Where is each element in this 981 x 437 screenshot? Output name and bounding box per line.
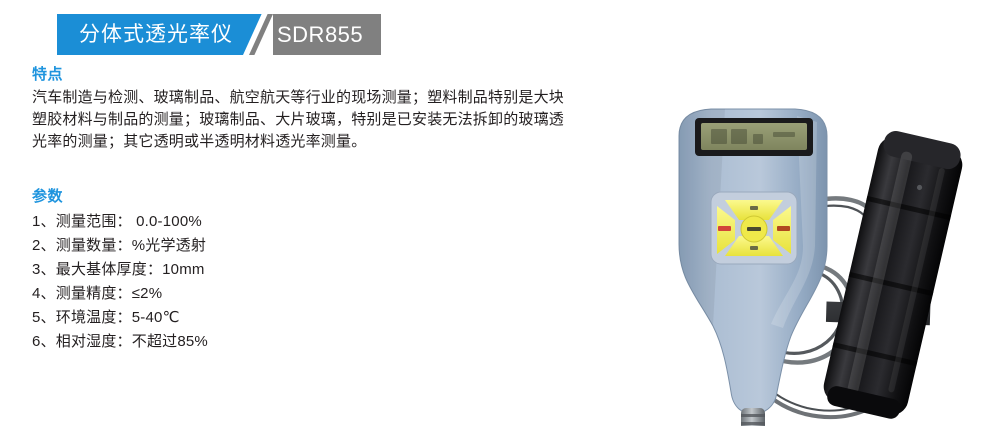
keypad-center-legend [747,227,761,231]
keypad-down-legend [750,246,758,250]
list-item: 6、相对湿度：不超过85% [32,330,452,354]
probe-assembly [804,124,971,423]
list-item: 3、最大基体厚度：10mm [32,258,452,282]
product-title-banner: 分体式透光率仪 SDR855 [57,14,381,55]
product-spec-page: 分体式透光率仪 SDR855 特点 汽车制造与检测、玻璃制品、航空航天等行业的现… [0,0,981,437]
keypad-up-legend [750,206,758,210]
meter-unit [679,109,827,426]
banner-gray-segment: SDR855 [273,14,381,55]
keypad-left-legend [718,226,731,231]
list-item: 1、测量范围： 0.0-100% [32,210,452,234]
list-item: 5、环境温度：5-40℃ [32,306,452,330]
banner-blue-segment: 分体式透光率仪 [57,14,243,55]
parameters-list: 1、测量范围： 0.0-100% 2、测量数量：%光学透射 3、最大基体厚度：1… [32,210,452,354]
parameters-heading: 参数 [32,186,452,208]
banner-slash-divider [243,14,273,55]
features-heading: 特点 [32,64,672,86]
connector-ring [741,422,765,425]
keypad-right-legend [777,226,790,231]
features-text-line: 光率的测量；其它透明或半透明材料透光率测量。 [32,131,672,153]
features-text-line: 汽车制造与检测、玻璃制品、航空航天等行业的现场测量；塑料制品特别是大块 [32,87,672,109]
parameters-section: 参数 1、测量范围： 0.0-100% 2、测量数量：%光学透射 3、最大基体厚… [32,186,452,354]
list-item: 4、测量精度：≤2% [32,282,452,306]
connector-ring [741,414,765,417]
features-text-line: 塑胶材料与制品的测量；玻璃制品、大片玻璃，特别是已安装无法拆卸的玻璃透 [32,109,672,131]
list-item: 2、测量数量：%光学透射 [32,234,452,258]
product-photo [655,96,981,426]
model-number-label: SDR855 [277,24,363,46]
features-section: 特点 汽车制造与检测、玻璃制品、航空航天等行业的现场测量；塑料制品特别是大块 塑… [32,64,672,153]
product-name-label: 分体式透光率仪 [79,24,233,45]
